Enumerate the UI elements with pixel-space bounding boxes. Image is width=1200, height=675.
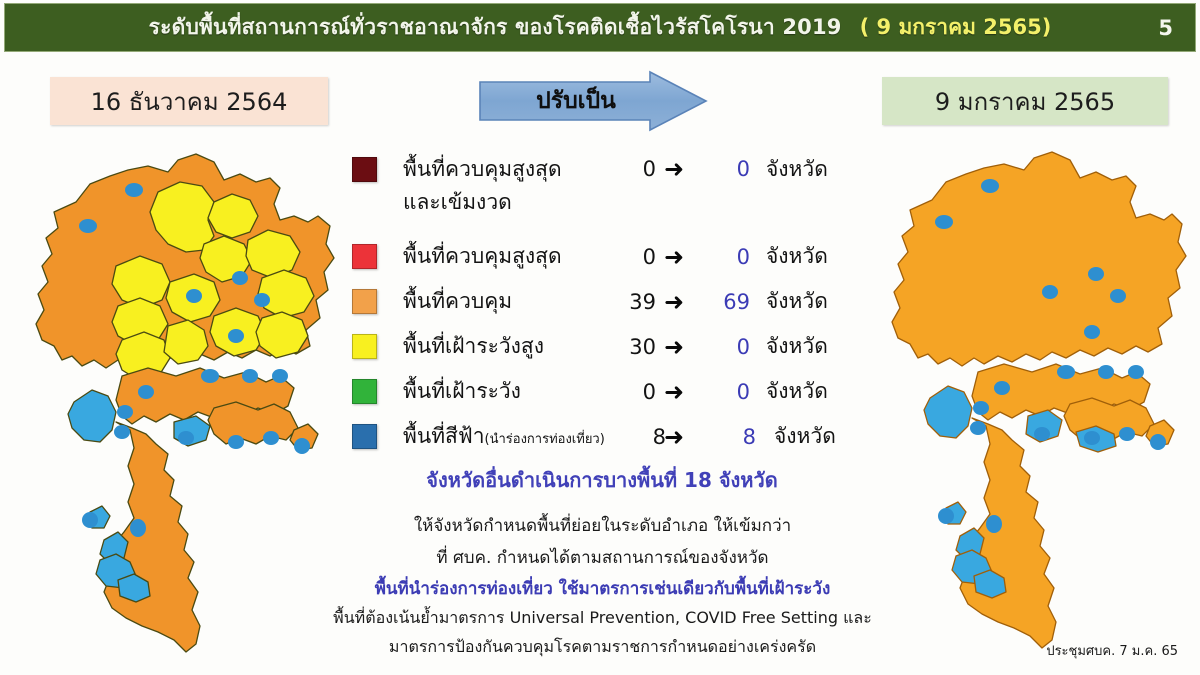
- header-date: ( 9 มกราคม 2565): [860, 11, 1052, 44]
- meeting-source-note: ประชุมศบค. 7 ม.ค. 65: [1046, 640, 1178, 661]
- legend-label: พื้นที่เฝ้าระวัง: [403, 375, 521, 408]
- legend-label: พื้นที่สีฟ้า(นำร่องการท่องเที่ยว): [403, 420, 605, 453]
- legend-new-count: 0: [704, 245, 750, 269]
- legend-new-count: 8: [710, 425, 756, 449]
- legend-other-provinces-note: จังหวัดอื่นดำเนินการบางพื้นที่ 18 จังหวั…: [392, 464, 812, 496]
- legend-unit: จังหวัด: [766, 330, 828, 363]
- legend-swatch-blue: [352, 424, 377, 449]
- legend-label: พื้นที่เฝ้าระวังสูง: [403, 330, 544, 363]
- arrow-label: ปรับเป็น: [478, 70, 674, 132]
- banner-date-after-label: 9 มกราคม 2565: [935, 82, 1115, 121]
- legend-arrow-icon: ➜: [664, 425, 684, 449]
- banner-date-before-label: 16 ธันวาคม 2564: [91, 82, 288, 121]
- legend-unit: จังหวัด: [766, 153, 828, 186]
- transition-arrow: ปรับเป็น: [478, 70, 710, 132]
- footnote-line-2: ที่ ศบค. กำหนดได้ตามสถานการณ์ของจังหวัด: [330, 544, 875, 571]
- legend-new-count: 0: [704, 335, 750, 359]
- legend-label: พื้นที่ควบคุมสูงสุด: [403, 153, 562, 186]
- legend-row: พื้นที่สีฟ้า(นำร่องการท่องเที่ยว) 8 ➜ 8 …: [352, 414, 852, 459]
- slide-header: ระดับพื้นที่สถานการณ์ทั่วราชอาณาจักร ของ…: [4, 3, 1196, 52]
- map-thailand-after-svg: [880, 140, 1190, 660]
- footnote-line-5: มาตรการป้องกันควบคุมโรคตามราชการกำหนดอย่…: [330, 635, 875, 660]
- footnote-block: ให้จังหวัดกำหนดพื้นที่ย่อยในระดับอำเภอ ใ…: [330, 512, 875, 660]
- legend-arrow-icon: ➜: [664, 335, 684, 359]
- legend-row: พื้นที่ควบคุมสูงสุด 0 ➜ 0 จังหวัด: [352, 234, 852, 279]
- legend-arrow-icon: ➜: [664, 380, 684, 404]
- legend-swatch-red: [352, 244, 377, 269]
- legend-swatch-green: [352, 379, 377, 404]
- legend-unit: จังหวัด: [766, 375, 828, 408]
- legend-label-main: พื้นที่สีฟ้า: [403, 424, 485, 448]
- legend-label: พื้นที่ควบคุม: [403, 285, 512, 318]
- map-thailand-before-svg: [18, 140, 348, 660]
- status-level-legend: พื้นที่ควบคุมสูงสุด 0 ➜ 0 จังหวัด และเข้…: [352, 146, 852, 459]
- legend-old-count: 0: [610, 380, 656, 404]
- legend-new-count: 69: [704, 290, 750, 314]
- legend-unit: จังหวัด: [774, 420, 836, 453]
- legend-unit: จังหวัด: [766, 240, 828, 273]
- legend-label: พื้นที่ควบคุมสูงสุด: [403, 240, 562, 273]
- footnote-line-4: พื้นที่ต้องเน้นย้ำมาตรการ Universal Prev…: [330, 606, 875, 631]
- legend-swatch-darkred: [352, 157, 377, 182]
- legend-old-count: 39: [610, 290, 656, 314]
- legend-row: พื้นที่เฝ้าระวัง 0 ➜ 0 จังหวัด: [352, 369, 852, 414]
- legend-unit: จังหวัด: [766, 285, 828, 318]
- legend-label-line2: และเข้มงวด: [403, 186, 512, 219]
- map-thailand-before: [18, 140, 348, 660]
- legend-new-count: 0: [704, 157, 750, 181]
- legend-old-count: 0: [610, 157, 656, 181]
- legend-old-count: 0: [610, 245, 656, 269]
- slide-canvas: ระดับพื้นที่สถานการณ์ทั่วราชอาณาจักร ของ…: [0, 0, 1200, 675]
- footnote-line-3: พื้นที่นำร่องการท่องเที่ยว ใช้มาตรการเช่…: [330, 575, 875, 602]
- legend-old-count: 8: [620, 425, 666, 449]
- legend-row: พื้นที่ควบคุม 39 ➜ 69 จังหวัด: [352, 279, 852, 324]
- map-thailand-after: [880, 140, 1190, 660]
- page-number: 5: [1158, 16, 1173, 40]
- banner-date-after: 9 มกราคม 2565: [882, 77, 1168, 125]
- legend-row: พื้นที่ควบคุมสูงสุด 0 ➜ 0 จังหวัด และเข้…: [352, 146, 852, 192]
- legend-row: พื้นที่เฝ้าระวังสูง 30 ➜ 0 จังหวัด: [352, 324, 852, 369]
- legend-old-count: 30: [610, 335, 656, 359]
- legend-arrow-icon: ➜: [664, 290, 684, 314]
- footnote-line-1: ให้จังหวัดกำหนดพื้นที่ย่อยในระดับอำเภอ ใ…: [330, 512, 875, 539]
- legend-label-sub: (นำร่องการท่องเที่ยว): [485, 432, 605, 447]
- page-title: ระดับพื้นที่สถานการณ์ทั่วราชอาณาจักร ของ…: [149, 11, 842, 44]
- banner-date-before: 16 ธันวาคม 2564: [50, 77, 328, 125]
- legend-swatch-orange: [352, 289, 377, 314]
- legend-arrow-icon: ➜: [664, 245, 684, 269]
- legend-new-count: 0: [704, 380, 750, 404]
- legend-arrow-icon: ➜: [664, 157, 684, 181]
- legend-swatch-yellow: [352, 334, 377, 359]
